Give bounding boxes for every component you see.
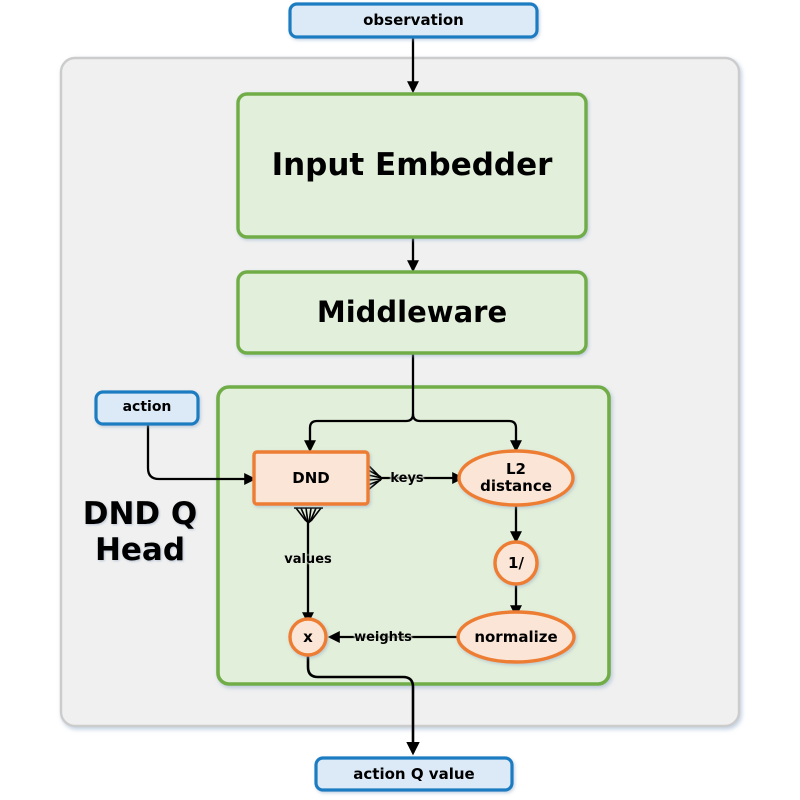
diagram-canvas: observation Input Embedder Middleware ac… <box>0 0 800 800</box>
dnd-q-head-group-title: DND Q Head <box>78 497 202 569</box>
node-multiply[interactable] <box>290 619 326 655</box>
node-middleware[interactable] <box>238 272 586 353</box>
edge-label-weights: weights <box>344 626 422 648</box>
node-l2-distance[interactable] <box>459 451 573 505</box>
node-reciprocal[interactable] <box>495 542 537 584</box>
node-input-embedder[interactable] <box>238 94 586 237</box>
edge-label-keys: keys <box>382 466 432 490</box>
edge-label-values: values <box>272 548 344 570</box>
node-normalize[interactable] <box>458 612 574 662</box>
node-observation[interactable] <box>290 4 537 37</box>
diagram-svg <box>0 0 800 800</box>
node-action-q-value[interactable] <box>316 758 512 790</box>
node-dnd[interactable] <box>254 452 368 504</box>
node-action[interactable] <box>96 392 198 424</box>
